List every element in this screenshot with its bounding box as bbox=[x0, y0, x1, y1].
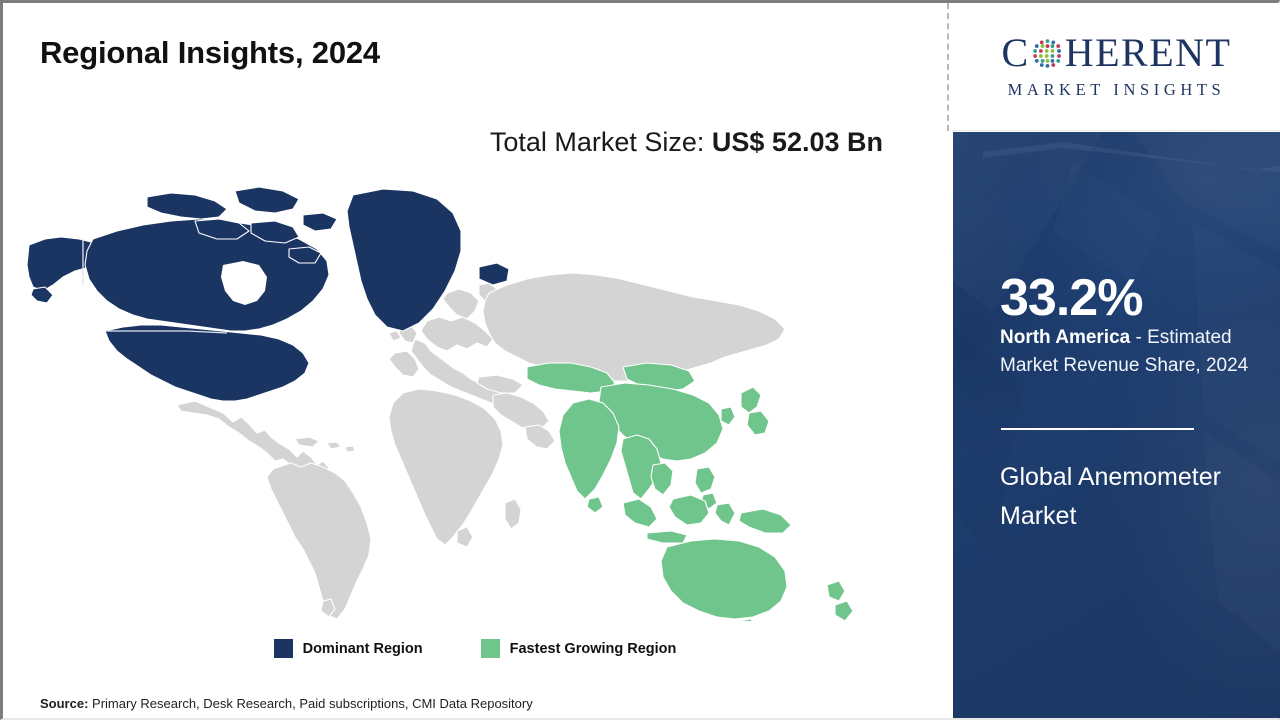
logo-wordmark: C bbox=[1002, 33, 1232, 73]
legend-swatch-dominant-icon bbox=[274, 639, 293, 658]
total-market-size: Total Market Size: US$ 52.03 Bn bbox=[3, 127, 883, 158]
page-title: Regional Insights, 2024 bbox=[40, 35, 380, 71]
source-line: Source: Primary Research, Desk Research,… bbox=[40, 696, 533, 711]
logo-brand-part1: C bbox=[1002, 33, 1030, 73]
stat-panel-background-texture bbox=[953, 132, 1280, 718]
source-text: Primary Research, Desk Research, Paid su… bbox=[88, 696, 532, 711]
market-size-label: Total Market Size: bbox=[490, 127, 712, 157]
legend-item-fastest-growing: Fastest Growing Region bbox=[481, 639, 677, 658]
market-name: Global Anemometer Market bbox=[1000, 458, 1255, 536]
stat-panel: 33.2% North America - Estimated Market R… bbox=[953, 132, 1280, 718]
vertical-dashed-divider bbox=[947, 3, 949, 131]
legend-label-fastest-growing: Fastest Growing Region bbox=[510, 641, 677, 657]
stat-description: North America - Estimated Market Revenue… bbox=[1000, 324, 1270, 379]
stat-divider-rule bbox=[1001, 428, 1194, 430]
world-map bbox=[27, 181, 907, 621]
main-content-panel: Regional Insights, 2024 Total Market Siz… bbox=[3, 3, 947, 718]
source-label: Source: bbox=[40, 696, 88, 711]
legend-swatch-fastest-growing-icon bbox=[481, 639, 500, 658]
stat-region-name: North America bbox=[1000, 327, 1130, 348]
world-map-svg bbox=[27, 181, 907, 621]
map-legend: Dominant Region Fastest Growing Region bbox=[3, 639, 947, 658]
logo-brand-part2: HERENT bbox=[1065, 33, 1232, 73]
brand-logo[interactable]: C bbox=[953, 3, 1280, 131]
stat-percent-value: 33.2% bbox=[1000, 272, 1142, 324]
logo-tagline: MARKET INSIGHTS bbox=[1008, 80, 1226, 100]
market-size-value: US$ 52.03 Bn bbox=[712, 127, 883, 157]
legend-label-dominant: Dominant Region bbox=[303, 641, 423, 657]
legend-item-dominant: Dominant Region bbox=[274, 639, 423, 658]
sidebar: C bbox=[950, 3, 1280, 718]
globe-dot-pattern-icon bbox=[1031, 37, 1064, 70]
report-infographic-root: Regional Insights, 2024 Total Market Siz… bbox=[0, 0, 1280, 720]
map-fastest-growing-regions bbox=[527, 363, 853, 621]
